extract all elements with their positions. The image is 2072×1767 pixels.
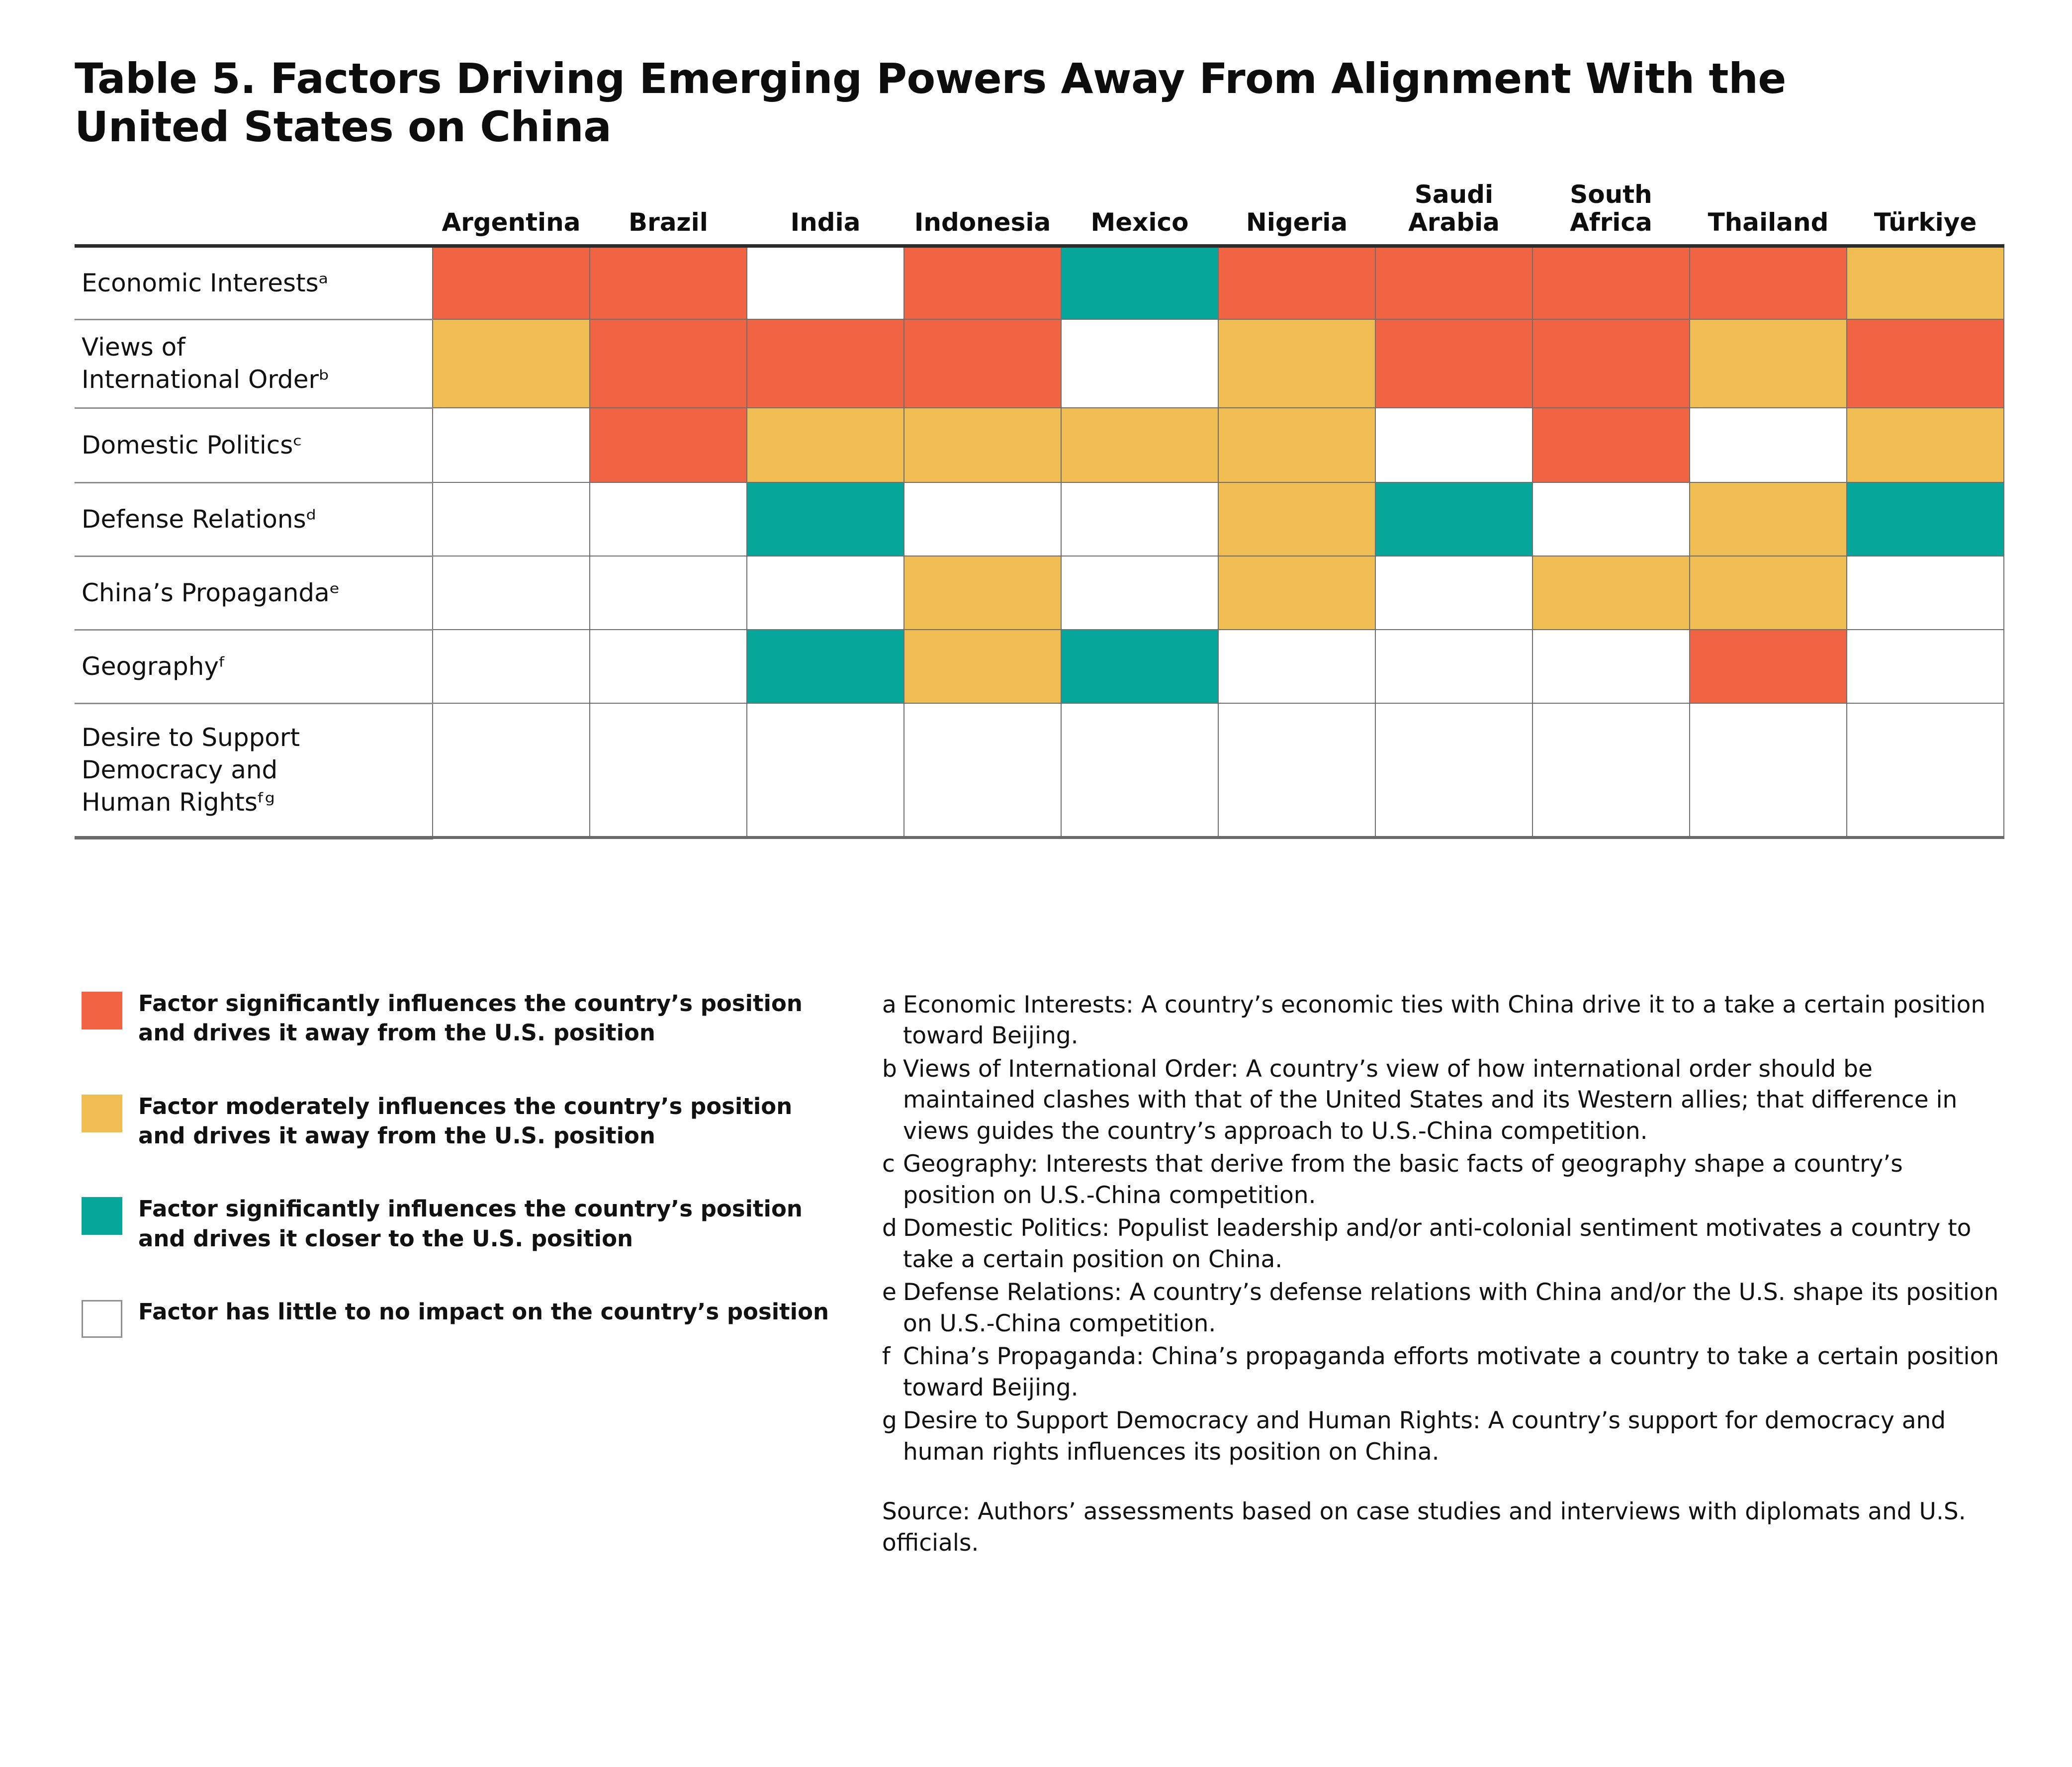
legend-swatch-yellow	[82, 1095, 122, 1132]
footnote-marker: d	[882, 1213, 903, 1275]
legend-item-significant-closer: Factor significantly influences the coun…	[82, 1194, 850, 1253]
matrix-cell	[1375, 319, 1532, 408]
footnote-marker: c	[882, 1149, 903, 1211]
column-header-india: India	[747, 181, 904, 246]
matrix-cell	[904, 556, 1061, 630]
matrix-cell	[1061, 703, 1218, 837]
table-row: Views of International Orderᵇ	[75, 319, 2004, 408]
column-header-mexico: Mexico	[1061, 181, 1218, 246]
table-row: China’s Propagandaᵉ	[75, 556, 2004, 630]
matrix-cell	[1847, 408, 2004, 482]
legend: Factor significantly influences the coun…	[75, 989, 850, 1338]
matrix-cell	[1532, 630, 1690, 703]
matrix-cell	[1375, 246, 1532, 319]
matrix-cell	[590, 246, 747, 319]
legend-swatch-red	[82, 992, 122, 1029]
column-header-south-africa: South Africa	[1532, 181, 1690, 246]
matrix-cell	[590, 408, 747, 482]
column-header-brazil: Brazil	[590, 181, 747, 246]
footnote-text: Economic Interests: A country’s economic…	[903, 990, 2002, 1052]
matrix-cell	[1061, 246, 1218, 319]
legend-swatch-white	[82, 1300, 122, 1338]
column-header-indonesia: Indonesia	[904, 181, 1061, 246]
row-label: China’s Propagandaᵉ	[75, 556, 433, 630]
matrix-cell	[747, 630, 904, 703]
matrix-cell	[1218, 408, 1375, 482]
matrix-cell	[904, 703, 1061, 837]
matrix-cell	[1847, 556, 2004, 630]
matrix-cell	[590, 319, 747, 408]
footnote-text: China’s Propaganda: China’s propaganda e…	[903, 1341, 2002, 1403]
matrix-cell	[433, 319, 590, 408]
matrix-cell	[1375, 482, 1532, 556]
legend-label-red: Factor significantly influences the coun…	[138, 989, 803, 1048]
table-page: Table 5. Factors Driving Emerging Powers…	[0, 0, 2072, 1559]
matrix-cell	[1375, 556, 1532, 630]
matrix-cell	[1847, 246, 2004, 319]
table-row: Desire to Support Democracy and Human Ri…	[75, 703, 2004, 837]
footnote-text: Desire to Support Democracy and Human Ri…	[903, 1405, 2002, 1468]
matrix-cell	[904, 319, 1061, 408]
footnote-marker: a	[882, 990, 903, 1052]
matrix-cell	[1847, 319, 2004, 408]
table-row: Geographyᶠ	[75, 630, 2004, 703]
footnote-marker: f	[882, 1341, 903, 1403]
footnote: dDomestic Politics: Populist leadership …	[882, 1213, 2002, 1275]
footnote: aEconomic Interests: A country’s economi…	[882, 990, 2002, 1052]
legend-swatch-teal	[82, 1197, 122, 1235]
matrix-cell	[433, 630, 590, 703]
table-header: Argentina Brazil India Indonesia Mexico …	[75, 181, 2004, 246]
matrix-cell	[433, 482, 590, 556]
source-note: Source: Authors’ assessments based on ca…	[882, 1496, 2002, 1559]
matrix-cell	[904, 246, 1061, 319]
matrix-cell	[1847, 630, 2004, 703]
matrix-cell	[1690, 319, 1847, 408]
matrix-cell	[1690, 556, 1847, 630]
corner-cell	[75, 181, 433, 246]
column-header-argentina: Argentina	[433, 181, 590, 246]
matrix-cell	[904, 408, 1061, 482]
column-header-turkiye: Türkiye	[1847, 181, 2004, 246]
column-header-thailand: Thailand	[1690, 181, 1847, 246]
footnote-marker: b	[882, 1054, 903, 1147]
matrix-cell	[590, 482, 747, 556]
row-label: Defense Relationsᵈ	[75, 482, 433, 556]
factors-matrix-table: Argentina Brazil India Indonesia Mexico …	[75, 181, 2004, 839]
matrix-cell	[1218, 630, 1375, 703]
lower-block: Factor significantly influences the coun…	[75, 989, 2002, 1559]
row-label: Desire to Support Democracy and Human Ri…	[75, 703, 433, 837]
legend-item-no-impact: Factor has little to no impact on the co…	[82, 1297, 850, 1338]
matrix-cell	[1218, 246, 1375, 319]
column-header-saudi-arabia: Saudi Arabia	[1375, 181, 1532, 246]
row-label: Views of International Orderᵇ	[75, 319, 433, 408]
matrix-cell	[1532, 482, 1690, 556]
matrix-cell	[747, 482, 904, 556]
matrix-cell	[1690, 482, 1847, 556]
matrix-cell	[1218, 556, 1375, 630]
page-title: Table 5. Factors Driving Emerging Powers…	[75, 55, 1939, 152]
matrix-cell	[1847, 703, 2004, 837]
matrix-cell	[433, 556, 590, 630]
matrix-cell	[1061, 408, 1218, 482]
footnote-marker: e	[882, 1277, 903, 1339]
footnote: gDesire to Support Democracy and Human R…	[882, 1405, 2002, 1468]
legend-label-yellow: Factor moderately influences the country…	[138, 1092, 792, 1151]
footnote-text: Domestic Politics: Populist leadership a…	[903, 1213, 2002, 1275]
matrix-cell	[1061, 319, 1218, 408]
matrix-cell	[747, 703, 904, 837]
footnote: cGeography: Interests that derive from t…	[882, 1149, 2002, 1211]
matrix-cell	[747, 556, 904, 630]
matrix-cell	[433, 246, 590, 319]
matrix-cell	[1375, 630, 1532, 703]
matrix-cell	[1061, 556, 1218, 630]
row-label: Domestic Politicsᶜ	[75, 408, 433, 482]
matrix-cell	[747, 246, 904, 319]
matrix-cell	[1690, 630, 1847, 703]
matrix-cell	[1218, 703, 1375, 837]
matrix-cell	[1847, 482, 2004, 556]
matrix-cell	[904, 630, 1061, 703]
matrix-cell	[1061, 630, 1218, 703]
footnotes: aEconomic Interests: A country’s economi…	[850, 989, 2002, 1559]
matrix-cell	[1532, 703, 1690, 837]
footnote: fChina’s Propaganda: China’s propaganda …	[882, 1341, 2002, 1403]
matrix-cell	[1532, 408, 1690, 482]
legend-item-moderate-away: Factor moderately influences the country…	[82, 1092, 850, 1151]
footnote-text: Views of International Order: A country’…	[903, 1054, 2002, 1147]
table-body: Economic InterestsᵃViews of Internationa…	[75, 246, 2004, 837]
matrix-cell	[1218, 482, 1375, 556]
table-row: Domestic Politicsᶜ	[75, 408, 2004, 482]
row-label: Geographyᶠ	[75, 630, 433, 703]
matrix-cell	[1061, 482, 1218, 556]
matrix-cell	[1218, 319, 1375, 408]
matrix-cell	[1690, 703, 1847, 837]
legend-label-teal: Factor significantly influences the coun…	[138, 1194, 803, 1253]
matrix-cell	[590, 556, 747, 630]
matrix-cell	[590, 703, 747, 837]
header-row: Argentina Brazil India Indonesia Mexico …	[75, 181, 2004, 246]
footnote: bViews of International Order: A country…	[882, 1054, 2002, 1147]
table-row: Defense Relationsᵈ	[75, 482, 2004, 556]
matrix-cell	[904, 482, 1061, 556]
matrix-cell	[747, 408, 904, 482]
footnote-text: Geography: Interests that derive from th…	[903, 1149, 2002, 1211]
matrix-cell	[1532, 556, 1690, 630]
column-header-nigeria: Nigeria	[1218, 181, 1375, 246]
matrix-cell	[433, 408, 590, 482]
legend-label-white: Factor has little to no impact on the co…	[138, 1297, 829, 1326]
matrix-cell	[1532, 246, 1690, 319]
footnote-text: Defense Relations: A country’s defense r…	[903, 1277, 2002, 1339]
matrix-cell	[1375, 703, 1532, 837]
matrix-cell	[1690, 408, 1847, 482]
footnote-marker: g	[882, 1405, 903, 1468]
matrix-cell	[1690, 246, 1847, 319]
matrix-cell	[590, 630, 747, 703]
table-row: Economic Interestsᵃ	[75, 246, 2004, 319]
matrix-cell	[1375, 408, 1532, 482]
row-label: Economic Interestsᵃ	[75, 246, 433, 319]
matrix-cell	[433, 703, 590, 837]
matrix-cell	[747, 319, 904, 408]
footnote: eDefense Relations: A country’s defense …	[882, 1277, 2002, 1339]
matrix-cell	[1532, 319, 1690, 408]
legend-item-significant-away: Factor significantly influences the coun…	[82, 989, 850, 1048]
